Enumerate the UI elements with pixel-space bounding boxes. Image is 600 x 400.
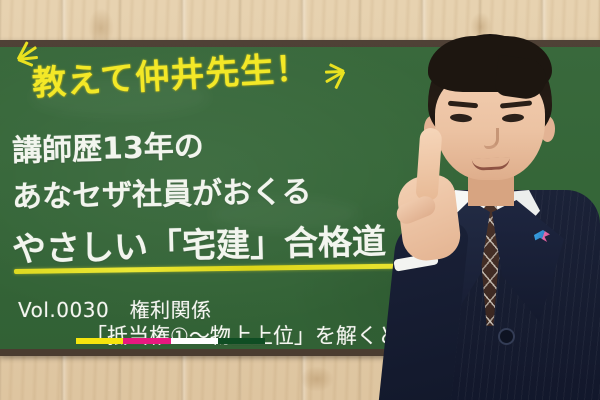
swatch-magenta: [123, 338, 171, 344]
jacket-button: [498, 328, 515, 345]
swatch-white: [171, 338, 218, 344]
color-swatch-bar: [76, 338, 265, 344]
instructor-photo: [388, 24, 600, 400]
swatch-dark-green: [218, 338, 265, 344]
wood-knot: [300, 366, 334, 392]
thumbnail-image: 教えて仲井先生！ 講師歴13年の あなセザ社員がおくる やさしい「宅建」合格道 …: [0, 0, 600, 400]
tagline-line-1: 講師歴13年の: [11, 121, 204, 170]
tagline-line-2: あなセザ社員がおくる: [12, 167, 312, 216]
hair-fringe: [428, 36, 552, 92]
tagline-line-3: やさしい「宅建」合格道: [11, 214, 386, 271]
volume-label: Vol.0030 権利関係: [18, 294, 212, 323]
swatch-yellow: [76, 338, 123, 344]
